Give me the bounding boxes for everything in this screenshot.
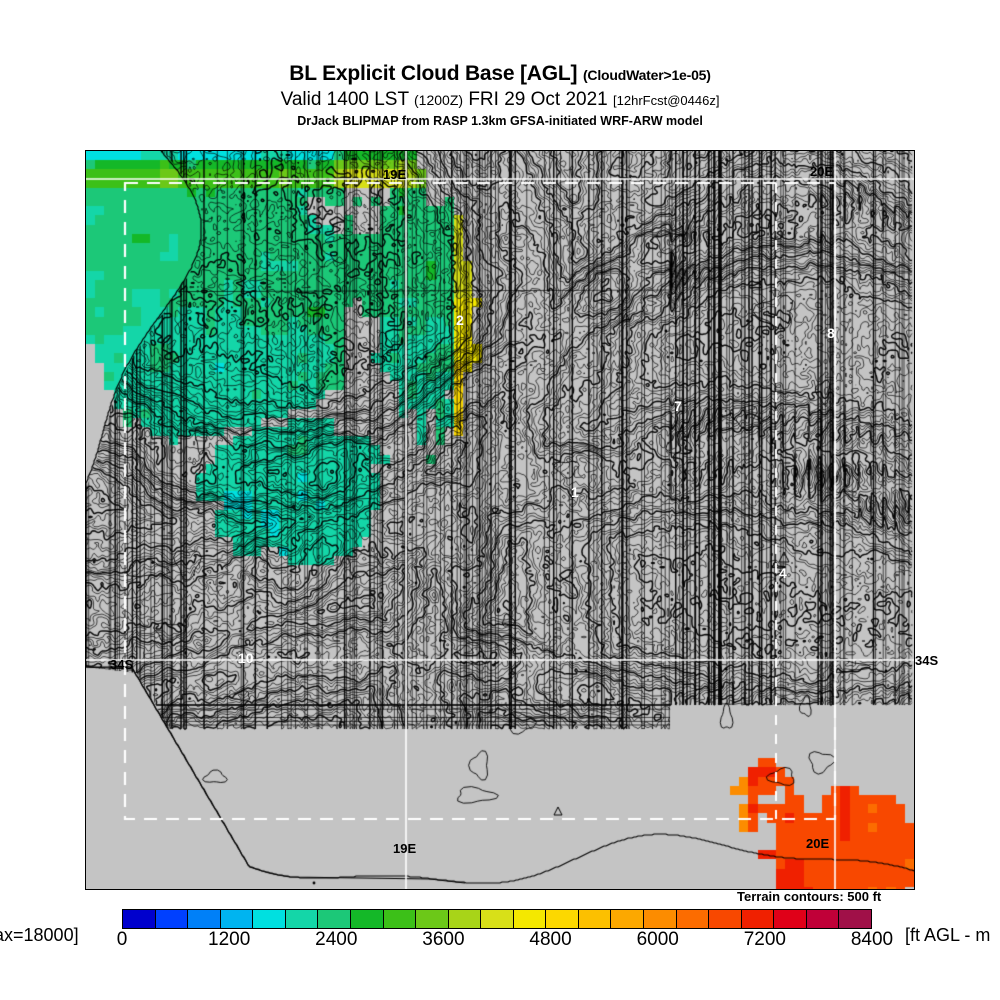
colorbar-tick-label: 8400	[832, 929, 912, 951]
colorbar-tick-label: 3600	[403, 929, 483, 951]
colorbar-swatch	[709, 910, 742, 928]
colorbar-tick-label: 0	[82, 929, 162, 951]
colorbar-units-label: [ft AGL - m	[905, 925, 990, 946]
station-marker: 7	[674, 398, 682, 414]
colorbar-swatch	[351, 910, 384, 928]
colorbar-swatch	[611, 910, 644, 928]
map-panel[interactable]	[85, 150, 915, 890]
colorbar-swatch	[318, 910, 351, 928]
colorbar-swatch	[774, 910, 807, 928]
colorbar-max-label: ax=18000]	[0, 925, 79, 946]
station-marker: 4	[779, 565, 787, 581]
graticule-label: 19E	[393, 841, 416, 856]
latitude-label: 34S	[915, 653, 938, 668]
page-title: BL Explicit Cloud Base [AGL] (CloudWater…	[0, 62, 1000, 87]
colorbar-swatch	[839, 910, 871, 928]
terrain-contour-note: Terrain contours: 500 ft	[737, 889, 881, 904]
colorbar-swatch	[188, 910, 221, 928]
colorbar-swatch	[286, 910, 319, 928]
colorbar-tick-label: 1200	[189, 929, 269, 951]
colorbar-swatch	[123, 910, 156, 928]
colorbar-tick-label: 6000	[618, 929, 698, 951]
colorbar-swatch	[481, 910, 514, 928]
colorbar-swatch	[221, 910, 254, 928]
graticule-label: 20E	[810, 164, 833, 179]
colorbar-swatch	[384, 910, 417, 928]
blipmap-page: BL Explicit Cloud Base [AGL] (CloudWater…	[0, 0, 1000, 1000]
valid-prefix: Valid 1400 LST	[281, 89, 409, 110]
station-marker: 10	[238, 650, 254, 666]
graticule-label: 19E	[383, 167, 406, 182]
colorbar-swatch	[579, 910, 612, 928]
model-source-line: DrJack BLIPMAP from RASP 1.3km GFSA-init…	[0, 113, 1000, 129]
colorbar-legend: ax=18000] 01200240036004800600072008400 …	[0, 905, 1000, 965]
title-main: BL Explicit Cloud Base [AGL]	[289, 62, 577, 85]
valid-date: FRI 29 Oct 2021	[468, 89, 607, 110]
colorbar-swatch	[449, 910, 482, 928]
station-marker: 2	[456, 312, 464, 328]
colorbar-tick-label: 7200	[725, 929, 805, 951]
valid-zulu: (1200Z)	[414, 92, 463, 108]
latitude-label: 34S	[110, 657, 133, 672]
colorbar-swatch	[416, 910, 449, 928]
colorbar-swatches	[122, 909, 872, 929]
colorbar-tick-label: 4800	[511, 929, 591, 951]
map-raster[interactable]	[86, 151, 914, 889]
colorbar-swatch	[514, 910, 547, 928]
station-marker: 8	[827, 325, 835, 341]
colorbar-swatch	[546, 910, 579, 928]
station-marker: 1	[571, 484, 579, 500]
colorbar-swatch	[807, 910, 840, 928]
colorbar-tick-label: 2400	[296, 929, 376, 951]
colorbar-swatch	[253, 910, 286, 928]
colorbar-swatch	[644, 910, 677, 928]
title-block: BL Explicit Cloud Base [AGL] (CloudWater…	[0, 62, 1000, 129]
valid-time-line: Valid 1400 LST (1200Z) FRI 29 Oct 2021 […	[0, 88, 1000, 112]
title-qualifier: (CloudWater>1e-05)	[583, 67, 711, 83]
valid-fcst: [12hrFcst@0446z]	[613, 93, 719, 108]
colorbar-swatch	[742, 910, 775, 928]
graticule-label: 20E	[806, 836, 829, 851]
colorbar-swatch	[156, 910, 189, 928]
colorbar-swatch	[677, 910, 710, 928]
